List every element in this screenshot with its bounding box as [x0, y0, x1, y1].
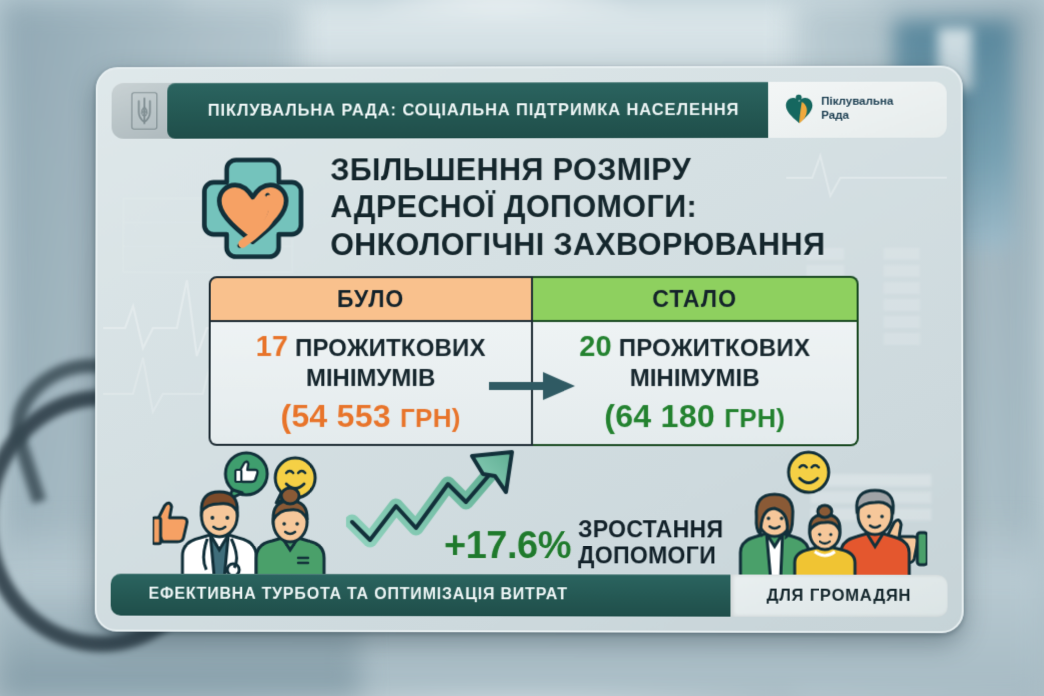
footer-audience-text: ДЛЯ ГРОМАДЯН: [767, 586, 912, 605]
comparison-column-before: БУЛО 17 ПРОЖИТКОВИХ МІНІМУМІВ (54 553 ГР…: [209, 276, 533, 442]
family-illustration: [730, 446, 927, 579]
title-block: ЗБІЛЬШЕННЯ РОЗМІРУ АДРЕСНОЇ ДОПОМОГИ: ОН…: [197, 152, 826, 264]
before-sum-value: (54 553: [281, 398, 391, 434]
thumbs-up-hand-icon: [153, 503, 187, 544]
page-title-line2: АДРЕСНОЇ ДОПОМОГИ:: [330, 189, 825, 227]
growth-label-line2: ДОПОМОГИ: [578, 543, 723, 569]
comparison-body-before: 17 ПРОЖИТКОВИХ МІНІМУМІВ (54 553 ГРН): [209, 322, 533, 446]
before-count: 17: [256, 331, 289, 363]
footer-audience: ДЛЯ ГРОМАДЯН: [730, 575, 947, 618]
nurse-figure: [256, 488, 324, 578]
brand-logo-line1: Піклувальна: [821, 96, 893, 110]
before-count-row: 17 ПРОЖИТКОВИХ: [256, 331, 486, 364]
after-sum-currency: ГРН): [724, 403, 785, 433]
page-title: ЗБІЛЬШЕННЯ РОЗМІРУ АДРЕСНОЇ ДОПОМОГИ: ОН…: [330, 152, 825, 264]
heart-hands-icon: [784, 94, 814, 126]
comparison-body-after: 20 ПРОЖИТКОВИХ МІНІМУМІВ (64 180 ГРН): [533, 322, 859, 446]
page-title-line1: ЗБІЛЬШЕННЯ РОЗМІРУ: [330, 152, 825, 190]
infographic-screenshot: ПІКЛУВАЛЬНА РАДА: СОЦІАЛЬНА ПІДТРИМКА НА…: [0, 0, 1044, 696]
smiley-face-icon: [789, 452, 829, 492]
comparison-header-before: БУЛО: [209, 276, 533, 322]
thumbs-up-bubble-icon: [225, 453, 267, 500]
comparison-header-after: СТАЛО: [533, 276, 859, 322]
before-sum: (54 553 ГРН): [281, 398, 461, 435]
before-unit-line2: МІНІМУМІВ: [306, 365, 435, 393]
after-unit-line2: МІНІМУМІВ: [630, 365, 760, 393]
comparison-table: БУЛО 17 ПРОЖИТКОВИХ МІНІМУМІВ (54 553 ГР…: [209, 276, 859, 442]
ukraine-coat-of-arms-icon: [130, 91, 158, 131]
header-title-text: ПІКЛУВАЛЬНА РАДА: СОЦІАЛЬНА ПІДТРИМКА НА…: [208, 100, 740, 120]
infographic-card: ПІКЛУВАЛЬНА РАДА: СОЦІАЛЬНА ПІДТРИМКА НА…: [95, 66, 964, 634]
doctor-figure: [182, 492, 256, 578]
after-sum-value: (64 180: [604, 398, 715, 434]
doctor-and-nurse-illustration: [153, 446, 353, 578]
brand-logo-line2: Рада: [821, 110, 893, 124]
brand-logo: Піклувальна Рада: [768, 82, 947, 138]
before-unit-line1: ПРОЖИТКОВИХ: [295, 335, 486, 362]
right-arrow-icon: [487, 368, 579, 404]
page-title-line3: ОНКОЛОГІЧНІ ЗАХВОРЮВАННЯ: [330, 226, 825, 264]
medical-cross-heart-ribbon-icon: [197, 152, 309, 264]
after-count: 20: [579, 331, 612, 363]
growth-section: +17.6% ЗРОСТАННЯ ДОПОМОГИ: [346, 448, 736, 577]
after-sum: (64 180 ГРН): [604, 398, 785, 435]
growth-percent: +17.6%: [444, 525, 571, 568]
after-count-row: 20 ПРОЖИТКОВИХ: [579, 331, 810, 364]
footer-bar: ЕФЕКТИВНА ТУРБОТА ТА ОПТИМІЗАЦІЯ ВИТРАТ …: [111, 574, 948, 617]
after-unit-line1: ПРОЖИТКОВИХ: [619, 335, 810, 362]
footer-slogan-text: ЕФЕКТИВНА ТУРБОТА ТА ОПТИМІЗАЦІЯ ВИТРАТ: [149, 586, 568, 605]
before-sum-currency: ГРН): [400, 403, 461, 433]
header-bar: ПІКЛУВАЛЬНА РАДА: СОЦІАЛЬНА ПІДТРИМКА НА…: [112, 82, 947, 139]
growth-label-line1: ЗРОСТАННЯ: [578, 518, 723, 544]
comparison-column-after: СТАЛО 20 ПРОЖИТКОВИХ МІНІМУМІВ (64 180 Г…: [533, 276, 859, 442]
growth-label: ЗРОСТАННЯ ДОПОМОГИ: [578, 518, 723, 569]
footer-slogan: ЕФЕКТИВНА ТУРБОТА ТА ОПТИМІЗАЦІЯ ВИТРАТ: [111, 574, 747, 617]
header-title: ПІКЛУВАЛЬНА РАДА: СОЦІАЛЬНА ПІДТРИМКА НА…: [167, 82, 780, 139]
brand-logo-text: Піклувальна Рада: [821, 96, 893, 123]
